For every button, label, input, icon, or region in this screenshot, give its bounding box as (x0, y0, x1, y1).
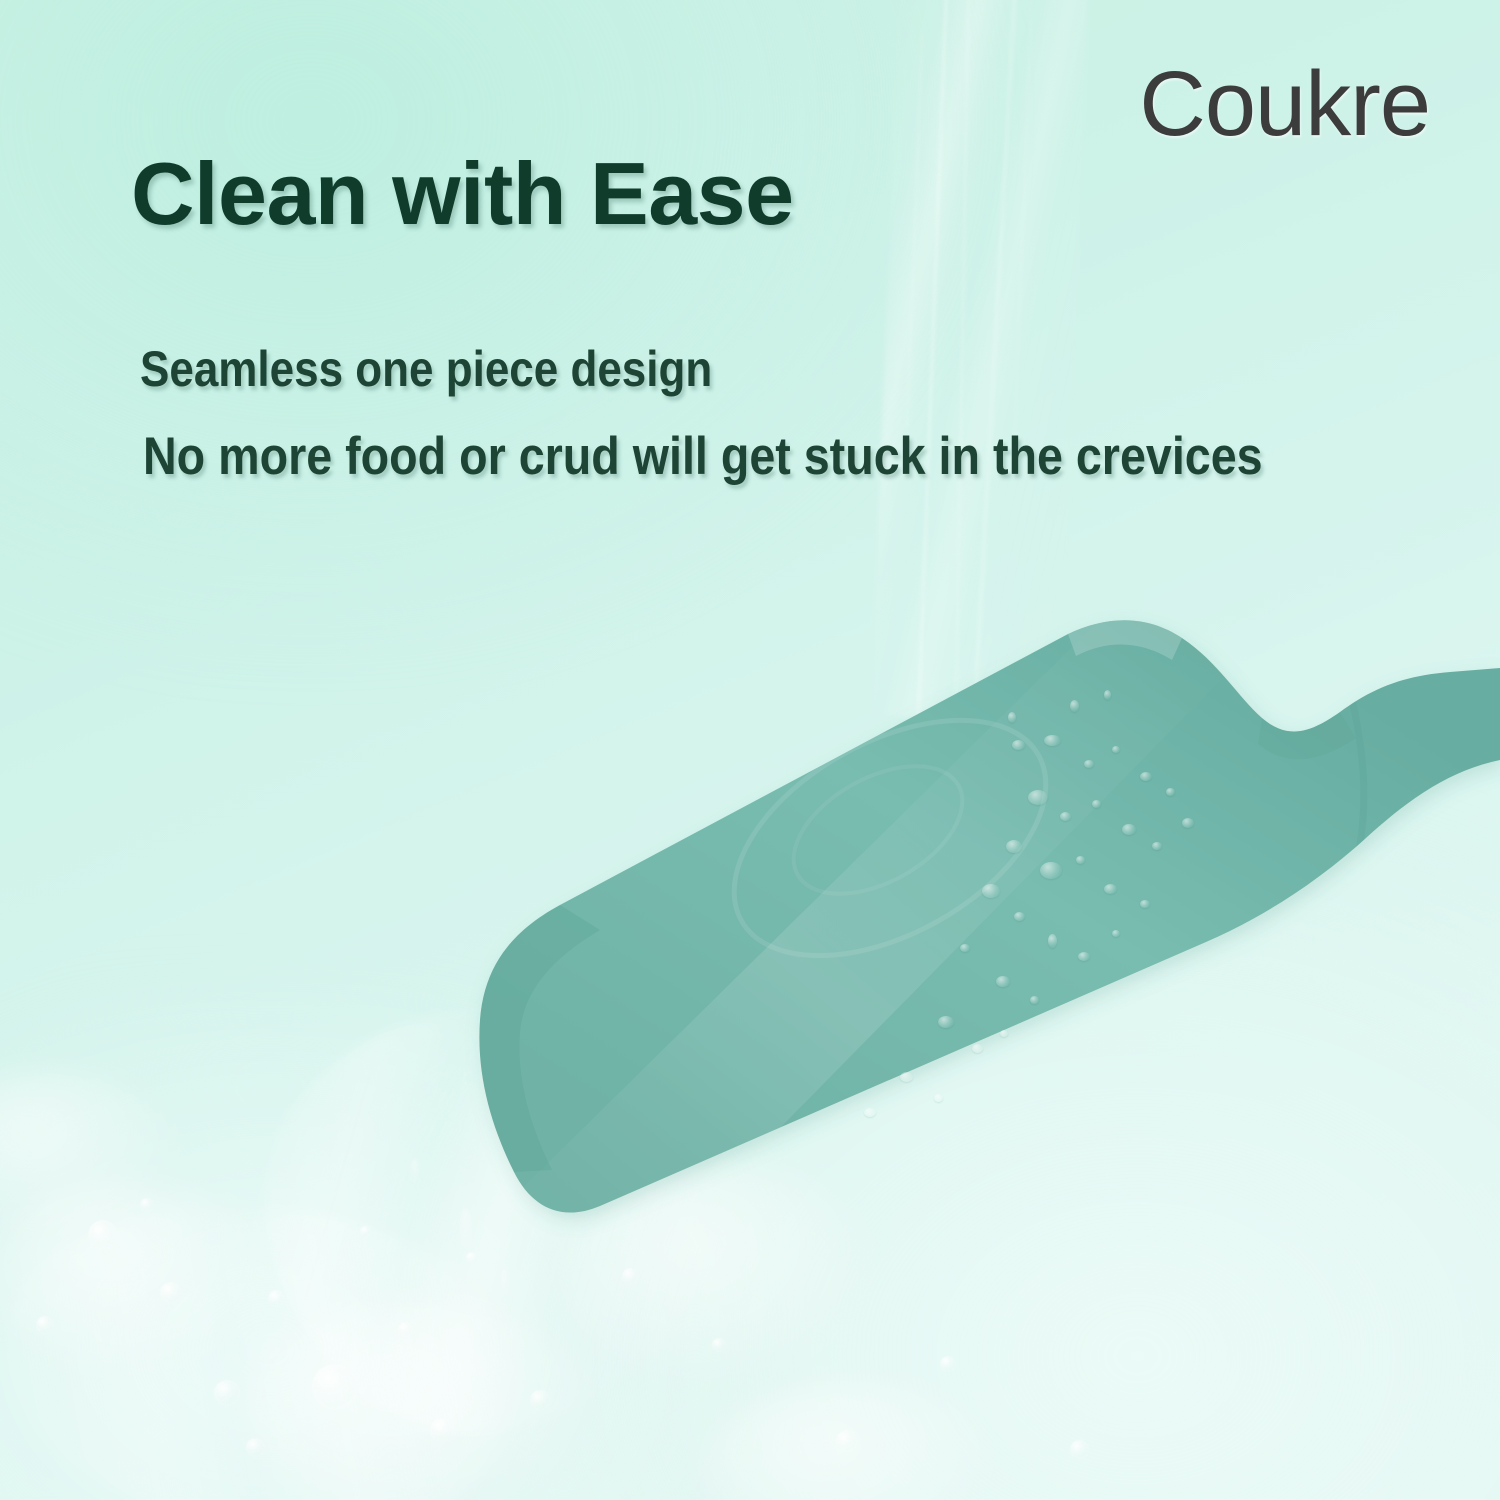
bubble (36, 1316, 54, 1334)
bubble (466, 1252, 478, 1264)
bubble (360, 1226, 371, 1237)
bubble (214, 1380, 240, 1406)
bubble (430, 1418, 454, 1442)
bubble (712, 1338, 726, 1352)
bubble (622, 1268, 639, 1285)
bubble (268, 1290, 285, 1307)
bubble (140, 1198, 154, 1212)
bubble (1070, 1440, 1089, 1459)
brand-logo: Coukre (1139, 58, 1430, 150)
bubble (940, 1356, 956, 1372)
bubble (312, 1364, 358, 1410)
subhead-line-1: Seamless one piece design (140, 342, 712, 397)
bubble (530, 1390, 550, 1410)
background-glow-top-left (0, 0, 990, 660)
bubble (836, 1430, 858, 1452)
bubble (246, 1438, 265, 1457)
bubble (398, 1322, 413, 1337)
bubble (88, 1220, 118, 1250)
bubble (160, 1282, 182, 1304)
subhead-line-2: No more food or crud will get stuck in t… (143, 428, 1263, 486)
product-marketing-image: Coukre Clean with Ease Seamless one piec… (0, 0, 1500, 1500)
page-title: Clean with Ease (131, 148, 794, 240)
